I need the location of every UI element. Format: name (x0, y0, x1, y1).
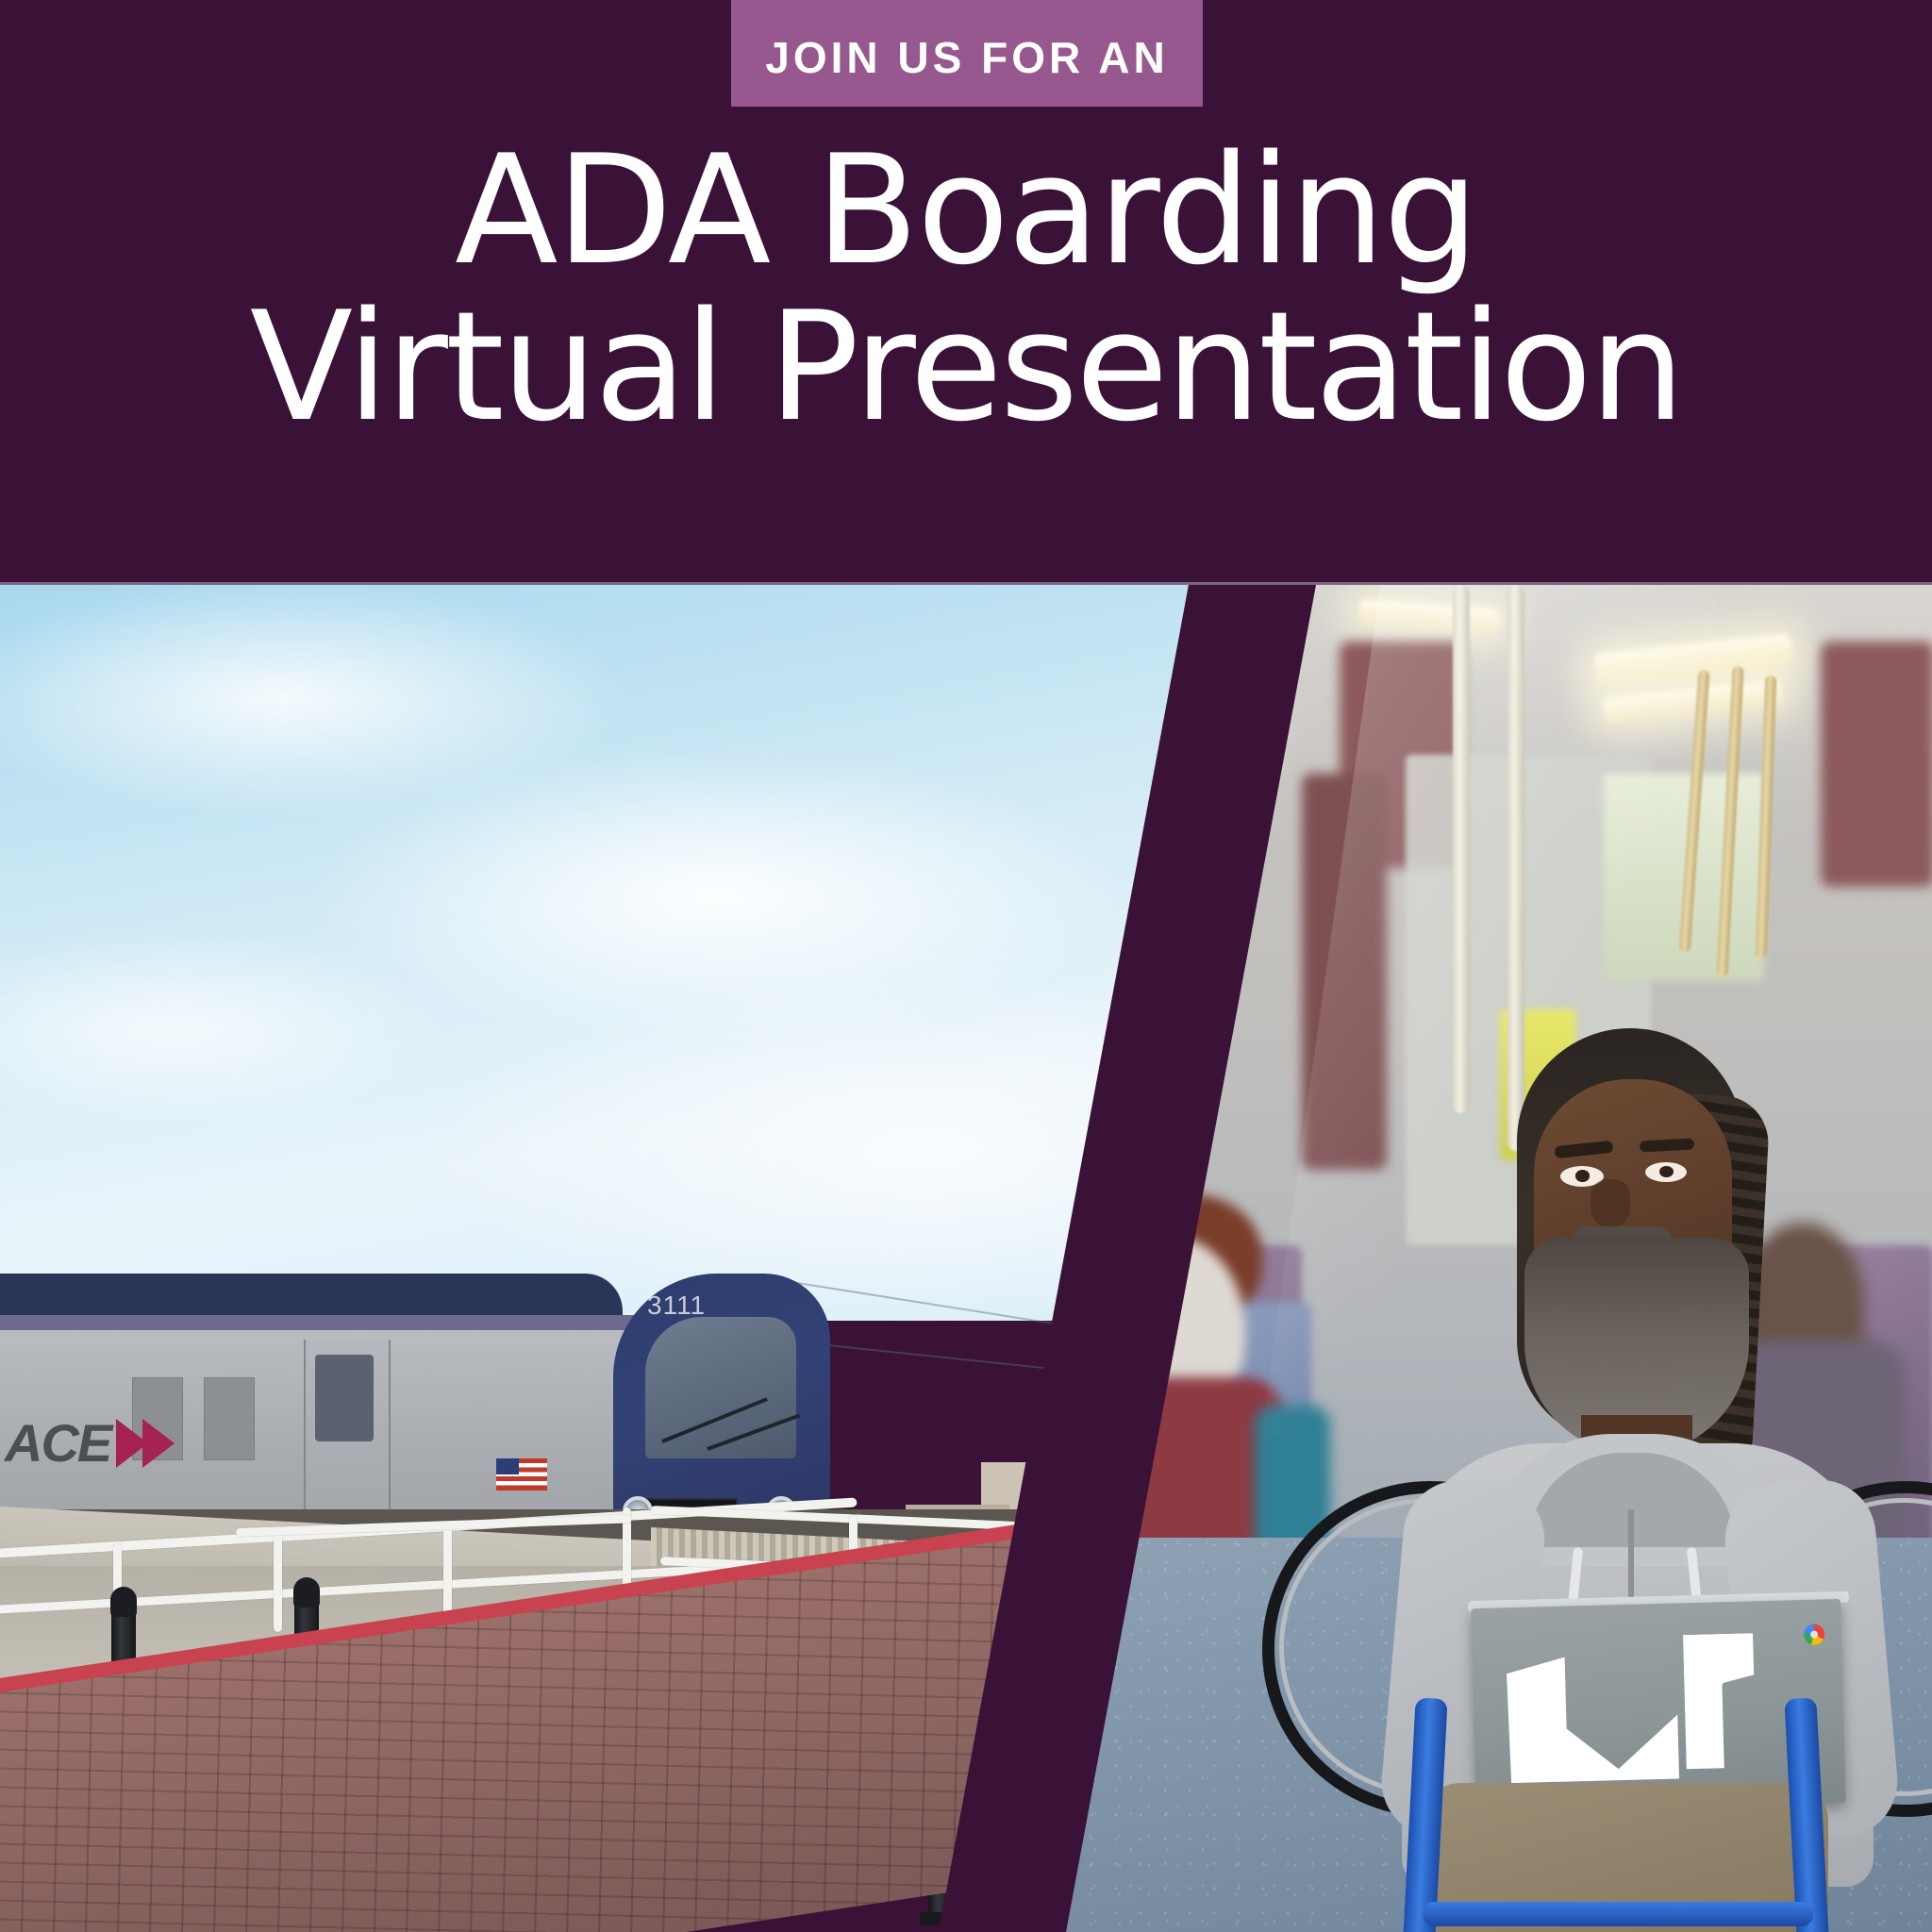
photo-collage: ACE 3111 3111 STOCKTON (0, 585, 1932, 1932)
page-title: ADA Boarding Virtual Presentation (0, 132, 1932, 446)
ace-wordmark: ACE (5, 1417, 110, 1470)
title-line-2: Virtual Presentation (0, 289, 1932, 445)
angular-w-logo (1498, 1624, 1804, 1785)
sky-background (0, 585, 1189, 1321)
poster-canvas: JOIN US FOR AN ADA Boarding Virtual Pres… (0, 0, 1932, 1932)
loco-cab-door-window (315, 1355, 374, 1441)
us-flag-icon (496, 1458, 547, 1491)
eyebrow-label: JOIN US FOR AN (765, 36, 1168, 79)
wheelchair-crossbar (1423, 1902, 1813, 1926)
loco-number-nose: 3111 (647, 1291, 706, 1321)
platform-railing (274, 1528, 282, 1632)
title-line-1: ADA Boarding (0, 132, 1932, 289)
ace-logo: ACE (5, 1417, 175, 1470)
platform-railing (443, 1521, 452, 1619)
header-band: JOIN US FOR AN ADA Boarding Virtual Pres… (0, 0, 1932, 585)
interior-wall-panel (1821, 641, 1932, 887)
loco-vent (204, 1377, 255, 1460)
eyebrow-badge: JOIN US FOR AN (731, 0, 1203, 107)
subject-eye (1645, 1162, 1687, 1182)
ace-chevron-icon (142, 1419, 175, 1468)
chrome-icon (1804, 1624, 1825, 1645)
